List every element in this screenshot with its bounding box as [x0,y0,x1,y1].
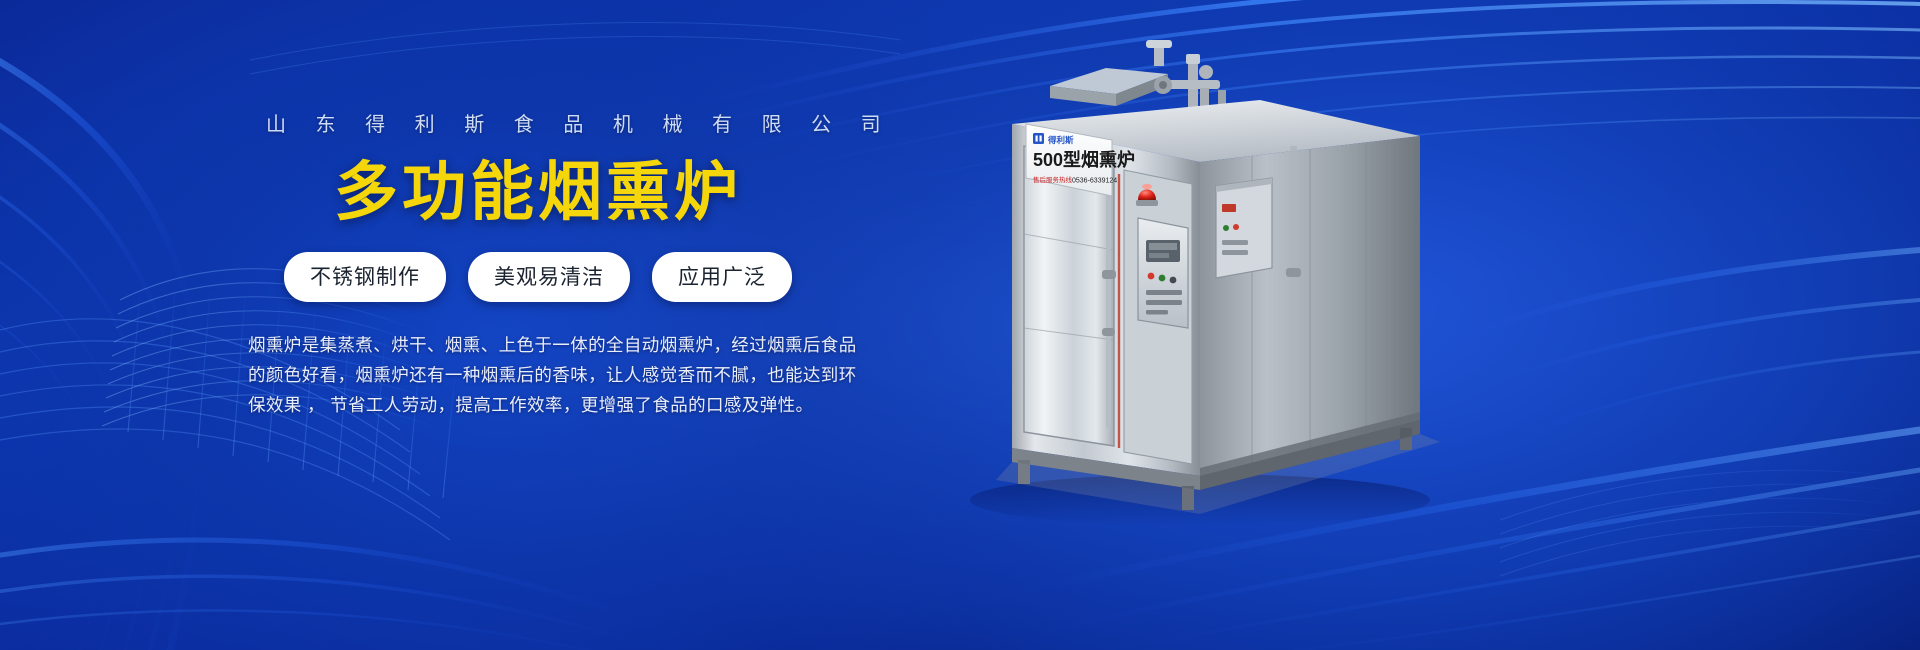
machine-svg: 得利斯 500型烟熏炉 售后服务热线 0536-6339124 [900,28,1520,548]
description-line-2: 的颜色好看，烟熏炉还有一种烟熏后的香味，让人感觉香而不腻，也能达到环 [248,360,814,390]
sign-logo-text: 得利斯 [1047,135,1074,145]
side-electrical-box[interactable] [1216,178,1272,278]
feature-pill-row: 不锈钢制作 美观易清洁 应用广泛 [248,252,828,302]
sign-model-text: 500型烟熏炉 [1033,149,1135,170]
sign-service-label: 售后服务热线 [1033,175,1073,184]
sign-phone-number: 0536-6339124 [1072,178,1117,185]
feature-pill-easy-clean[interactable]: 美观易清洁 [468,252,630,302]
side-box-indicator [1222,204,1236,212]
feature-pill-wide-use[interactable]: 应用广泛 [652,252,792,302]
company-name: 山 东 得 利 斯 食 品 机 械 有 限 公 司 [248,108,828,137]
page-title: 多功能烟熏炉 [248,159,828,226]
promo-banner: 山 东 得 利 斯 食 品 机 械 有 限 公 司 多功能烟熏炉 不锈钢制作 美… [0,0,1920,650]
banner-text-block: 山 东 得 利 斯 食 品 机 械 有 限 公 司 多功能烟熏炉 不锈钢制作 美… [248,108,828,420]
smokehouse-machine-photo: 得利斯 500型烟熏炉 售后服务热线 0536-6339124 [900,28,1520,548]
feature-pill-stainless[interactable]: 不锈钢制作 [284,252,446,302]
top-exhaust-hood [1050,68,1168,106]
control-panel[interactable] [1138,218,1188,328]
description-line-3: 保效果 ， 节省工人劳动，提高工作效率，更增强了食品的口感及弹性。 [248,390,814,420]
brand-logo-icon [1033,133,1044,144]
description-line-1: 烟熏炉是集蒸煮、烘干、烟熏、上色于一体的全自动烟熏炉，经过烟熏后食品 [248,330,814,360]
description-paragraph: 烟熏炉是集蒸煮、烘干、烟熏、上色于一体的全自动烟熏炉，经过烟熏后食品 的颜色好看… [248,330,814,420]
